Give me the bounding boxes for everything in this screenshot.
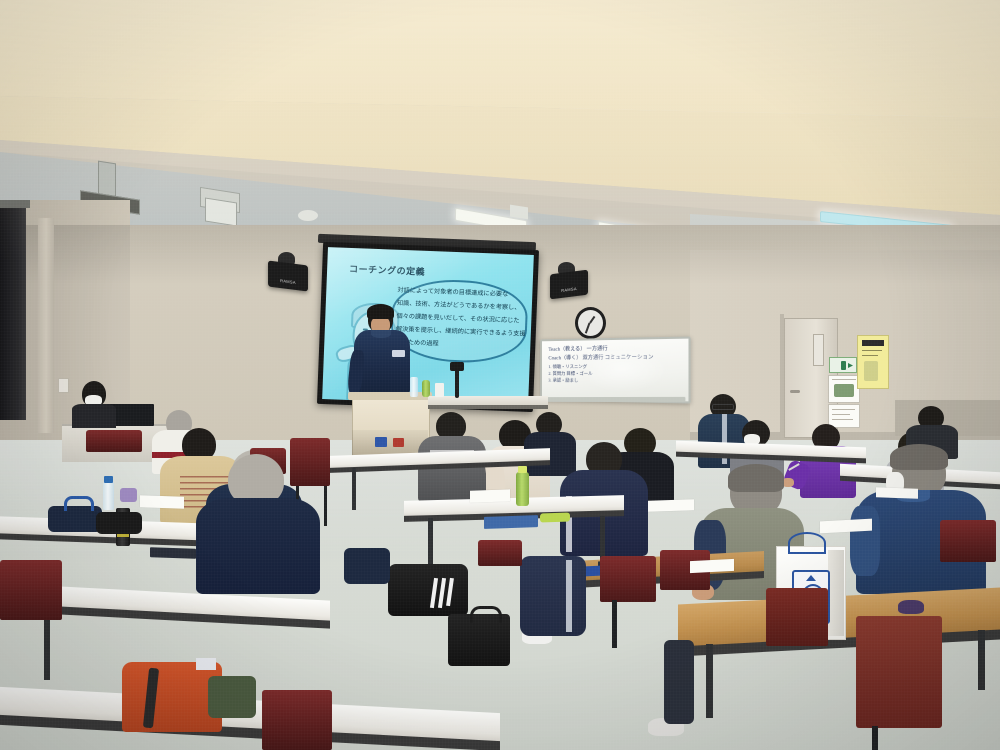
orange-backpack-tag bbox=[196, 658, 216, 670]
chair-back-left bbox=[86, 430, 142, 452]
attendee-vest-hair bbox=[728, 464, 784, 492]
notice-yellow-header bbox=[862, 340, 884, 346]
notice-1-image bbox=[834, 384, 854, 397]
chair-right-back bbox=[940, 520, 996, 562]
wall-notice-2 bbox=[828, 404, 860, 428]
water-bottle-left bbox=[103, 482, 114, 510]
exit-sign bbox=[829, 357, 857, 373]
attendee-teal-glasses bbox=[712, 404, 734, 410]
navy-bag-behind-sports bbox=[344, 548, 390, 584]
notice-2-line-1 bbox=[832, 409, 855, 410]
ceiling-diffuser-2 bbox=[205, 197, 237, 226]
attendee-blue-r-sleeve bbox=[850, 506, 880, 576]
podium-plate-2 bbox=[393, 438, 404, 447]
speaker-right: RAMSA bbox=[550, 270, 588, 300]
wall-pillar bbox=[38, 218, 54, 433]
speaker-left: RAMSA bbox=[268, 261, 308, 292]
paper-center-2 bbox=[648, 499, 694, 512]
microphone-stand bbox=[455, 368, 459, 398]
chair-right-fg-1 bbox=[766, 588, 828, 646]
chair-leg-row-1b bbox=[324, 486, 327, 526]
whiteboard-glare bbox=[590, 345, 670, 393]
orange-backpack bbox=[122, 662, 222, 732]
table-front-left-leg bbox=[44, 620, 50, 680]
presenter-logo bbox=[392, 350, 405, 357]
notice-yellow-line-1 bbox=[862, 350, 882, 351]
chair-center-1-leg bbox=[612, 600, 617, 648]
exit-sign-arrow bbox=[848, 363, 853, 368]
presenter-tea-bottle bbox=[422, 380, 430, 397]
attendee-fg-left-torso bbox=[196, 498, 320, 594]
exit-icon bbox=[841, 361, 846, 370]
track-pants-center bbox=[520, 556, 586, 636]
chair-right-fg-2-leg bbox=[872, 726, 878, 750]
seminar-room-photo: コーチングの定義 対話によって対象者の目標達成に必要な 知識、技術、方法がどうで… bbox=[0, 0, 1000, 750]
door-glass-panel bbox=[813, 334, 824, 366]
door-handle[interactable] bbox=[790, 390, 800, 393]
notice-yellow-line-2 bbox=[862, 355, 878, 356]
clock-hand-minute bbox=[585, 323, 590, 334]
speaker-right-brand: RAMSA bbox=[550, 285, 588, 295]
presenter-collar bbox=[371, 330, 391, 338]
microphone-head bbox=[450, 362, 464, 371]
paper-right-3 bbox=[876, 487, 918, 498]
curtain-rail bbox=[0, 200, 30, 208]
wall-clock bbox=[575, 307, 606, 339]
attendee-blue-r-hair bbox=[890, 444, 948, 470]
speaker-left-brand: RAMSA bbox=[268, 277, 308, 287]
notice-2-line-2 bbox=[832, 414, 850, 415]
leg-right-fg bbox=[664, 640, 694, 724]
track-pants-stripe bbox=[566, 560, 572, 632]
presenter-hair bbox=[367, 304, 394, 319]
chair-right-fg-2 bbox=[856, 616, 942, 728]
chair-front-bottom bbox=[262, 690, 332, 750]
paper-right-1 bbox=[690, 559, 734, 573]
navy-bag-handle bbox=[64, 496, 94, 511]
notice-2-line-3 bbox=[832, 419, 853, 420]
presenter-table-edge bbox=[428, 405, 548, 409]
green-tea-bottle bbox=[516, 472, 529, 506]
door-frame bbox=[780, 314, 784, 436]
chair-back-row-1 bbox=[290, 438, 330, 486]
notice-yellow-figure bbox=[864, 361, 878, 381]
black-bag-left-2 bbox=[96, 512, 142, 534]
green-tea-bottle-cap bbox=[518, 466, 527, 473]
paper-back-left bbox=[140, 495, 184, 509]
black-tote-handle bbox=[470, 606, 502, 623]
whiteboard-tray bbox=[541, 397, 685, 402]
table-mid-back-leg bbox=[352, 468, 356, 510]
notice-1-line bbox=[832, 379, 856, 380]
pen-case-green bbox=[540, 512, 570, 522]
shopping-bag-logo-bird bbox=[806, 575, 816, 581]
podium-plate bbox=[375, 437, 387, 447]
wall-switch-plate bbox=[58, 378, 69, 393]
presenter-water-bottle bbox=[410, 377, 418, 397]
podium-top bbox=[348, 392, 432, 400]
av-operator-torso bbox=[72, 404, 116, 428]
black-sports-bag bbox=[388, 564, 468, 616]
chair-center-1 bbox=[600, 556, 656, 602]
shoe-far-right bbox=[898, 600, 924, 614]
presenter-cup bbox=[435, 383, 444, 397]
chair-center-2 bbox=[478, 540, 522, 566]
magazine-front-mid bbox=[150, 547, 196, 559]
window-curtain bbox=[0, 205, 26, 420]
white-shopping-bag-side bbox=[828, 550, 844, 636]
paper-center-1 bbox=[470, 489, 510, 502]
purple-cup bbox=[120, 488, 137, 502]
white-shopping-bag-handle[interactable] bbox=[788, 532, 826, 554]
wall-notice-1 bbox=[828, 375, 860, 403]
wall-notice-yellow bbox=[857, 335, 889, 389]
green-bag-behind-orange bbox=[208, 676, 256, 718]
water-bottle-left-cap bbox=[104, 476, 113, 483]
table-right-fg-leg-2 bbox=[978, 630, 985, 690]
ceiling-speaker-dome bbox=[298, 210, 318, 221]
folder-blue-center bbox=[484, 515, 538, 529]
chair-front-left bbox=[0, 560, 62, 620]
table-right-fg-leg-1 bbox=[706, 644, 713, 718]
